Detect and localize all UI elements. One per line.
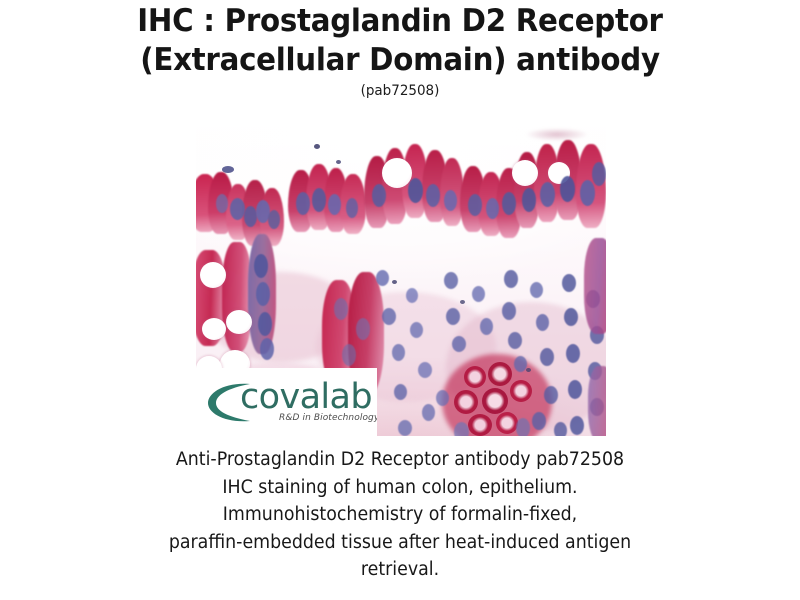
caption-line: IHC staining of human colon, epithelium. [24,474,776,502]
covalab-wordmark: covalab [240,376,372,418]
product-figure-page: IHC : Prostaglandin D2 Receptor (Extrace… [0,0,800,600]
ihc-micrograph: covalab R&D in Biotechnology [196,122,606,436]
figure-caption: Anti-Prostaglandin D2 Receptor antibody … [0,446,800,584]
covalab-tagline: R&D in Biotechnology [279,413,377,423]
page-title-line-2: (Extracellular Domain) antibody [28,41,772,80]
figure-header: IHC : Prostaglandin D2 Receptor (Extrace… [0,2,800,101]
caption-line: paraffin-embedded tissue after heat-indu… [24,529,776,557]
logo-inner: covalab R&D in Biotechnology [206,378,371,428]
caption-line: Immunohistochemistry of formalin-fixed, [24,501,776,529]
catalog-number: (pab72508) [28,81,772,101]
covalab-watermark: covalab R&D in Biotechnology [196,368,377,436]
caption-line: retrieval. [24,556,776,584]
page-title-line-1: IHC : Prostaglandin D2 Receptor [28,2,772,41]
caption-line: Anti-Prostaglandin D2 Receptor antibody … [24,446,776,474]
